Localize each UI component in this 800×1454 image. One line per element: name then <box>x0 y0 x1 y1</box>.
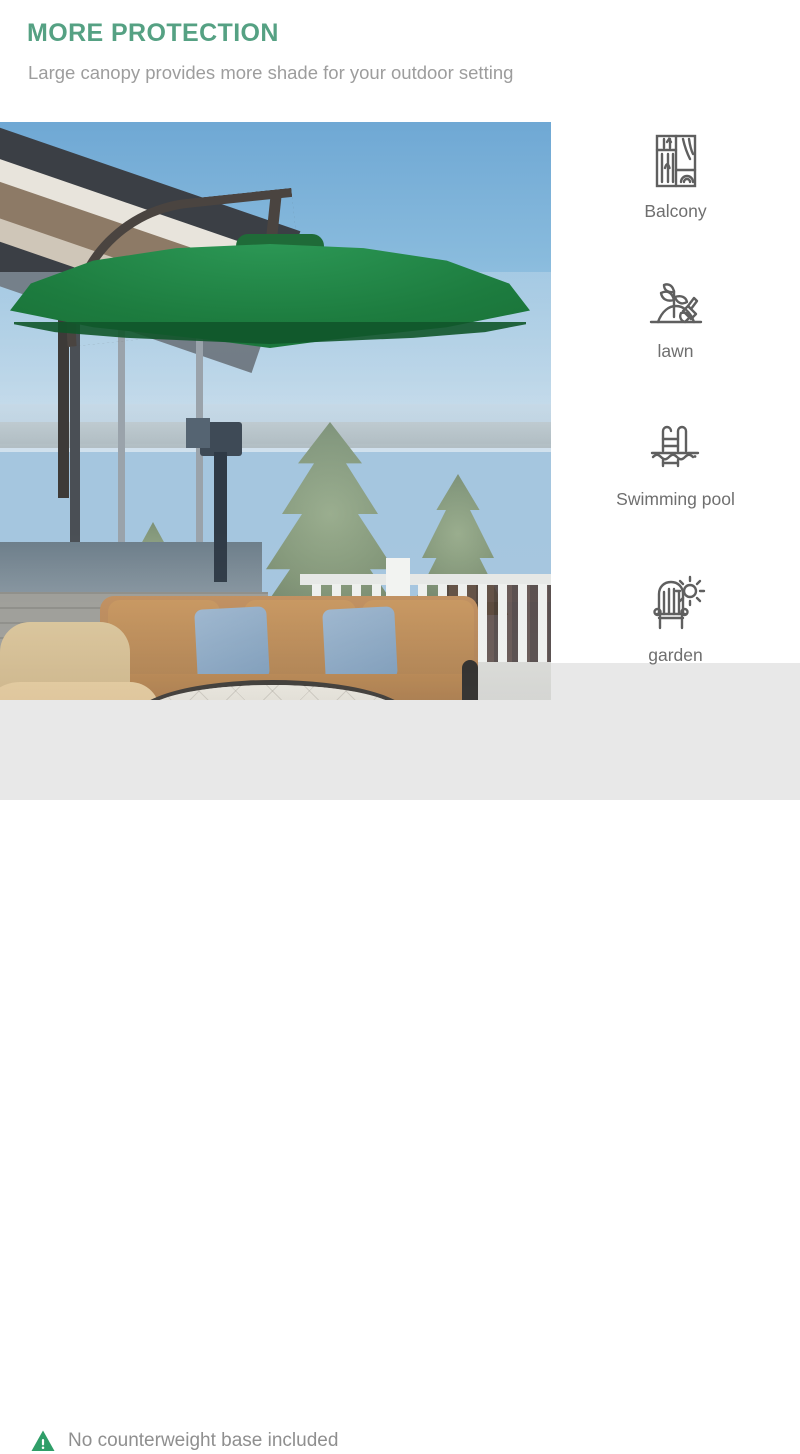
product-photo <box>0 122 551 700</box>
photo-scene <box>0 122 551 700</box>
garden-chair-icon <box>645 574 707 636</box>
notice-text: No counterweight base included <box>68 1430 338 1452</box>
feature-label: garden <box>551 646 800 665</box>
header: MORE PROTECTION Large canopy provides mo… <box>0 0 800 122</box>
throw-pillow-blue <box>322 606 398 682</box>
page-title: MORE PROTECTION <box>27 20 279 48</box>
lawn-icon <box>645 270 707 332</box>
swimming-pool-icon <box>645 418 707 480</box>
feature-item-garden[interactable]: garden <box>551 574 800 665</box>
feature-list: Balcony lawn <box>551 122 800 700</box>
throw-pillow-blue <box>194 606 270 682</box>
warning-triangle-icon <box>30 1428 56 1454</box>
notice: No counterweight base included <box>30 1428 338 1454</box>
feature-label: Swimming pool <box>551 490 800 509</box>
feature-label: Balcony <box>551 202 800 221</box>
balcony-icon <box>645 130 707 192</box>
product-feature-panel: MORE PROTECTION Large canopy provides mo… <box>0 0 800 800</box>
notice-bar: No counterweight base included <box>0 700 800 800</box>
patio-heater-control <box>186 418 210 448</box>
page-subtitle: Large canopy provides more shade for you… <box>28 62 513 84</box>
patio-chair-foreground <box>0 682 160 700</box>
feature-item-lawn[interactable]: lawn <box>551 270 800 361</box>
feature-item-swimming-pool[interactable]: Swimming pool <box>551 418 800 509</box>
patio-heater-pole <box>214 452 227 582</box>
sofa-arm-right <box>462 660 478 700</box>
feature-label: lawn <box>551 342 800 361</box>
feature-item-balcony[interactable]: Balcony <box>551 130 800 221</box>
